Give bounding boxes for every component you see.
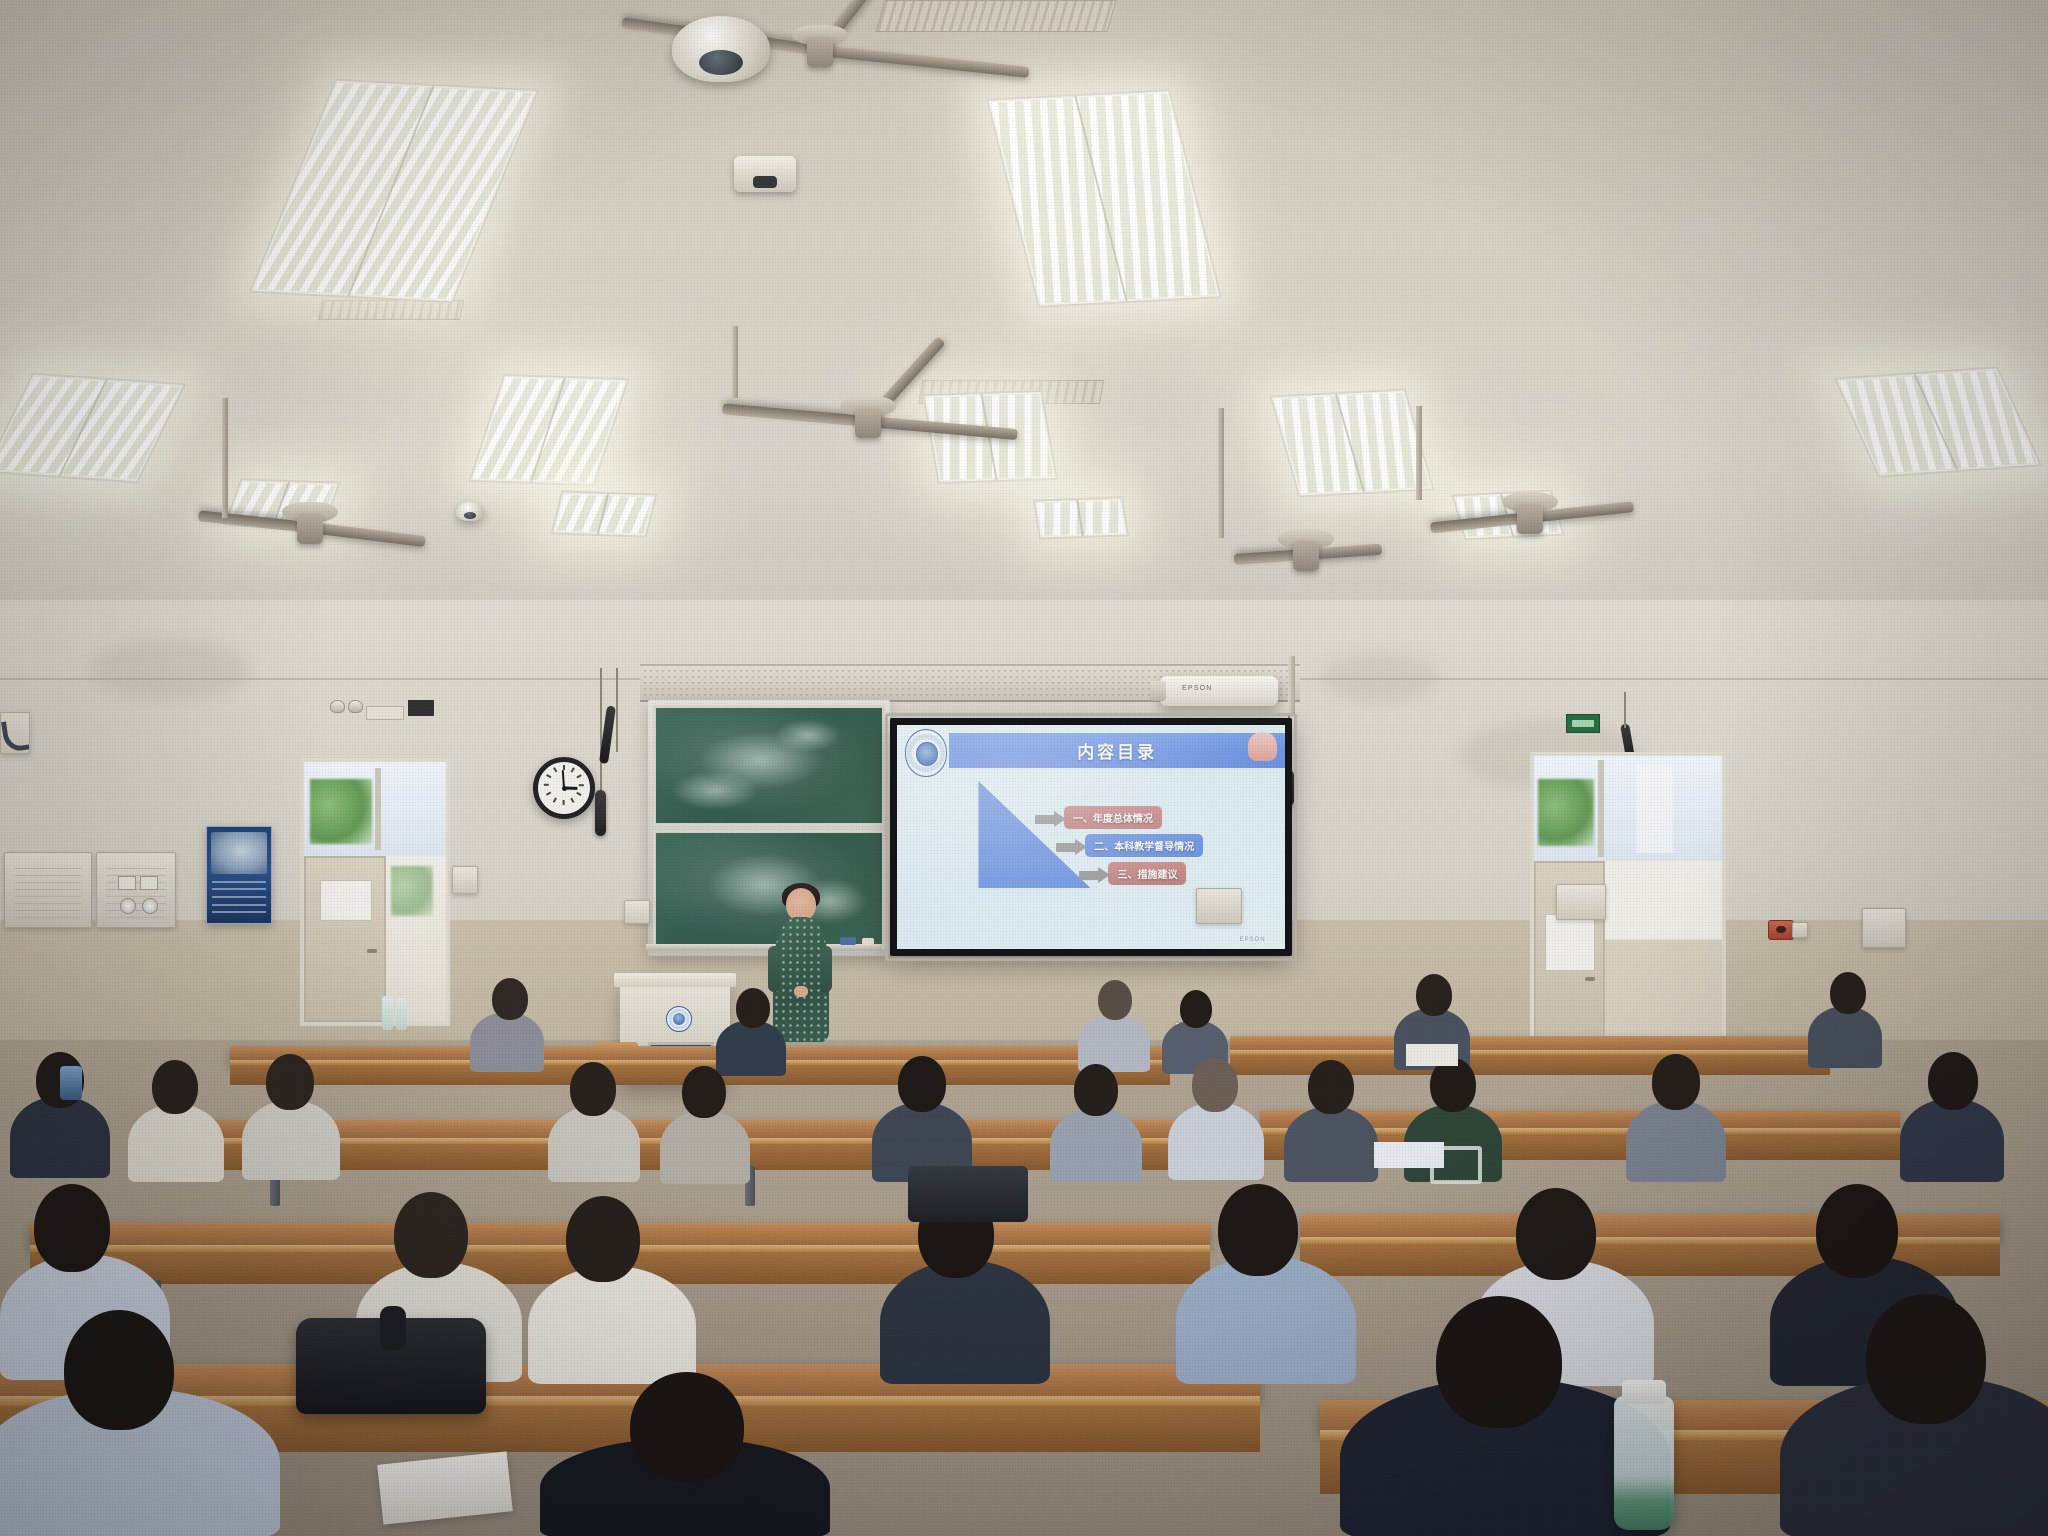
- attendee-head: [64, 1310, 174, 1430]
- attendee-head: [630, 1372, 744, 1482]
- emergency-light-label: [366, 706, 404, 720]
- ceiling-light: [1033, 496, 1129, 539]
- screen-pull-cord: [600, 668, 602, 798]
- backpack-strap: [380, 1306, 406, 1350]
- breaker-switch[interactable]: [118, 876, 136, 890]
- water-bottle-cap: [1622, 1380, 1666, 1404]
- ceiling-fan: [718, 386, 1018, 446]
- attendee-head: [1866, 1294, 1986, 1424]
- chalk-tray: [646, 944, 882, 951]
- slide-item-3[interactable]: 三、措施建议: [1108, 862, 1186, 886]
- lecture-hall-photo: EPSON 内容目录 一、年度总体情况 二、本科教学督导情况 三、措施建议 EP…: [0, 0, 2048, 1536]
- breaker-switch[interactable]: [140, 876, 158, 890]
- wall-poster-small: [0, 712, 30, 754]
- cord-grip: [595, 790, 606, 836]
- blackboard-panel-upper: [653, 705, 885, 826]
- attendee-head: [266, 1054, 314, 1110]
- slide-mascot-image: [1248, 732, 1277, 761]
- attendee-head: [1816, 1184, 1898, 1278]
- fan-drop-rod: [222, 398, 228, 518]
- paper-sheet: [1406, 1044, 1458, 1066]
- slide-pyramid-graphic: [978, 781, 1090, 888]
- door-handle[interactable]: [367, 949, 377, 953]
- screen-pull-cord: [1624, 692, 1626, 728]
- blackboard: [648, 700, 890, 956]
- blackboard-panel-lower: [653, 830, 885, 951]
- wall-box: [1196, 888, 1242, 924]
- attendee-head: [736, 988, 770, 1028]
- screen-pull-cord: [616, 668, 618, 752]
- ceiling-light: [1269, 388, 1434, 497]
- ceiling-light: [0, 373, 186, 484]
- door-notice: [320, 880, 372, 921]
- exit-sign-left: [408, 700, 434, 716]
- attendee-head: [1180, 990, 1212, 1028]
- attendee-head: [152, 1060, 198, 1114]
- safety-poster: [206, 826, 272, 924]
- air-vent: [318, 300, 464, 320]
- attendee-head: [1416, 974, 1452, 1016]
- fire-alarm-button[interactable]: [1768, 920, 1794, 940]
- electrical-panel[interactable]: [4, 852, 92, 928]
- slide-arrow-1: [1035, 815, 1055, 824]
- screen-brandmark: EPSON: [1240, 937, 1266, 943]
- laptop-bag: [908, 1166, 1028, 1222]
- paper-sheet: [1374, 1142, 1444, 1168]
- ceiling-light: [1834, 366, 2043, 477]
- ceiling-light: [468, 374, 629, 486]
- projector-brand-label: EPSON: [1182, 685, 1213, 692]
- junction-box: [624, 900, 650, 924]
- attendee-head: [394, 1192, 468, 1278]
- attendee-head: [1652, 1054, 1700, 1110]
- fan-drop-rod: [1218, 408, 1224, 538]
- slide-arrow-3: [1079, 871, 1099, 880]
- attendee-head: [1192, 1058, 1238, 1112]
- breaker-dial[interactable]: [142, 898, 158, 914]
- eraser: [862, 938, 874, 945]
- attendee-head: [34, 1184, 110, 1272]
- electrical-panel[interactable]: [96, 852, 176, 928]
- university-logo-icon: [905, 729, 948, 776]
- attendee-head: [566, 1196, 640, 1282]
- slide-item-2[interactable]: 二、本科教学督导情况: [1085, 834, 1203, 858]
- wall-switch-panel[interactable]: [1792, 922, 1808, 938]
- attendee-head: [1516, 1188, 1596, 1280]
- thermostat[interactable]: [1862, 908, 1906, 948]
- slide-arrow-2: [1056, 843, 1076, 852]
- wall-notice-board: [1556, 884, 1606, 920]
- ceiling: [0, 0, 2048, 640]
- exit-sign: [1566, 714, 1600, 733]
- dome-camera: [456, 502, 484, 521]
- door-intercom[interactable]: [452, 866, 478, 894]
- fan-drop-rod: [1416, 406, 1422, 500]
- attendee-head: [1098, 980, 1132, 1020]
- slide-title: 内容目录: [1077, 738, 1157, 763]
- attendee-head: [1830, 972, 1866, 1014]
- attendee-head: [1074, 1064, 1118, 1116]
- ceiling-fan: [1236, 532, 1376, 566]
- attendee-head: [1218, 1184, 1298, 1276]
- water-bottle: [1614, 1396, 1674, 1530]
- eraser: [840, 937, 856, 945]
- wall-clock: [533, 757, 595, 819]
- slide-header: 内容目录: [949, 733, 1285, 768]
- fan-drop-rod: [732, 326, 738, 398]
- mobile-phone: [60, 1066, 82, 1100]
- attendee-head: [1928, 1052, 1978, 1110]
- ceiling-fan: [1430, 492, 1630, 532]
- attendee-head: [570, 1062, 616, 1116]
- emergency-light: [330, 700, 363, 713]
- ceiling-fan: [600, 0, 1040, 90]
- attendee-head: [492, 978, 528, 1020]
- projector-lens: [1150, 681, 1166, 701]
- ceiling-fan: [200, 500, 420, 544]
- attendee-head: [1308, 1060, 1354, 1114]
- dome-camera: [672, 16, 770, 82]
- ceiling-light: [249, 79, 539, 304]
- slide-item-1[interactable]: 一、年度总体情况: [1064, 806, 1162, 830]
- attendee-head: [898, 1056, 946, 1112]
- projector-mount: [1288, 656, 1295, 716]
- smoke-detector: [734, 156, 796, 192]
- projector: EPSON: [1160, 676, 1278, 706]
- attendee-head: [1436, 1296, 1562, 1428]
- ceiling-light: [551, 490, 658, 537]
- attendee-head: [682, 1066, 726, 1118]
- attendee-head: [1430, 1058, 1476, 1112]
- door-transom: [1534, 756, 1722, 865]
- ceiling-light: [986, 89, 1222, 308]
- door-transom: [304, 762, 446, 860]
- breaker-dial[interactable]: [120, 898, 136, 914]
